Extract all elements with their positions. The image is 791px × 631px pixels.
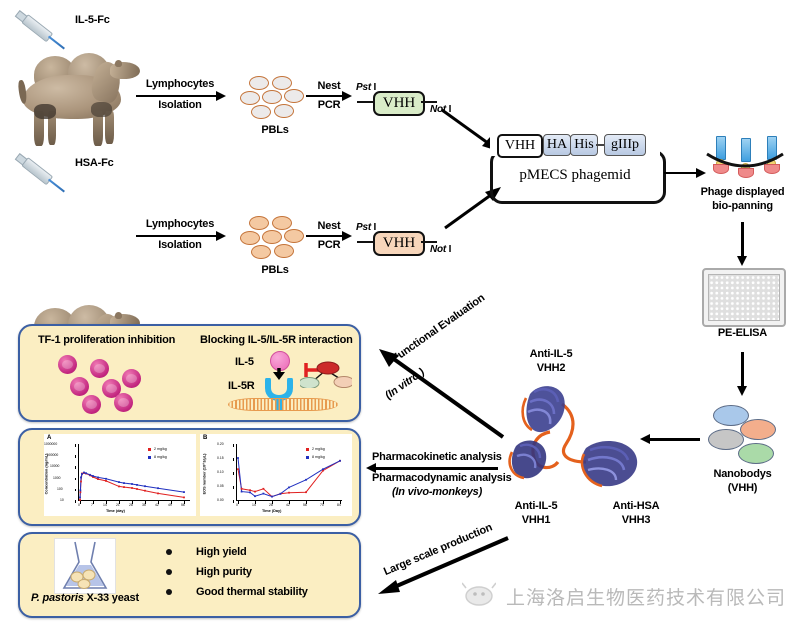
pharmacodynamic-label: Pharmacodynamic analysis xyxy=(372,472,512,486)
microplate-icon xyxy=(702,268,786,327)
antigen-label-il5: IL-5-Fc xyxy=(75,14,110,28)
camel-icon-il5 xyxy=(6,38,146,148)
vhh-gene-box-il5: VHH xyxy=(373,91,425,116)
antibody-icon xyxy=(300,358,352,388)
phagemid-element-ha: HA xyxy=(543,134,571,156)
cell-membrane-icon xyxy=(228,398,338,411)
chart-a-plot xyxy=(44,434,196,516)
vhh-gene-box-hsa: VHH xyxy=(373,231,425,256)
yeast-flask-icon xyxy=(54,538,116,594)
phagemid-element-vhh: VHH xyxy=(497,134,543,158)
pbl-cluster-il5 xyxy=(240,76,310,120)
isolation-arrow-il5 xyxy=(136,95,218,97)
pbls-label-il5: PBLs xyxy=(240,124,310,138)
nanobody-cluster xyxy=(708,405,782,463)
bullet-marker-0 xyxy=(166,549,172,555)
pharmacodynamic-sublabel: (In vivo-monkeys) xyxy=(372,486,502,500)
company-name: 上海洛启生物医药技术有限公司 xyxy=(506,583,786,610)
chart-b-plot xyxy=(200,434,352,516)
antigen-label-hsa: HSA-Fc xyxy=(75,157,114,171)
il5r-receptor-label: IL-5R xyxy=(228,380,255,394)
vhh2-label: Anti-IL-5 VHH2 xyxy=(505,348,597,376)
company-logo-icon xyxy=(462,580,496,610)
production-bullet-2: Good thermal stability xyxy=(196,586,308,600)
pst-site-label-hsa: Pst I xyxy=(356,222,376,235)
not-site-label-hsa: Not I xyxy=(430,244,451,257)
vhh3-label: Anti-HSA VHH3 xyxy=(592,500,680,528)
nanobody-label: Nanobodys (VHH) xyxy=(694,468,791,496)
isolation-step-label-hsa: Lymphocytes xyxy=(136,218,224,232)
elisa-to-nanobody-arrow xyxy=(741,352,744,388)
pcr-arrow-il5 xyxy=(306,95,344,97)
chart-a: A 10 100 1000 10000 100000 1000000 0 7 1… xyxy=(44,434,196,516)
pbl-cluster-hsa xyxy=(240,216,310,260)
nanobody-ellipse-2 xyxy=(740,419,776,440)
gene-stub-left-hsa xyxy=(357,241,373,243)
pst-site-label-il5: Pst I xyxy=(356,82,376,95)
trivalent-nanobody-structure xyxy=(500,370,660,520)
phagemid-linker xyxy=(596,144,604,146)
bullet-marker-2 xyxy=(166,589,172,595)
pk-pd-arrow xyxy=(376,467,498,470)
bullet-marker-1 xyxy=(166,569,172,575)
gene-stub-right-il5 xyxy=(421,101,437,103)
production-bullet-1: High purity xyxy=(196,566,252,580)
tf1-panel-title: TF-1 proliferation inhibition xyxy=(38,334,175,348)
chart-b: B 0.00 0.05 0.10 0.15 0.20 0 14 28 42 56… xyxy=(200,434,352,516)
isolation-step-label-il5: Lymphocytes xyxy=(136,78,224,92)
panning-to-elisa-arrowhead xyxy=(737,256,747,266)
vhh1-label: Anti-IL-5 VHH1 xyxy=(492,500,580,528)
nanobody-ellipse-4 xyxy=(738,443,774,464)
gene-stub-right-hsa xyxy=(421,241,437,243)
panning-to-elisa-arrow xyxy=(741,222,744,258)
il5-ligand-label: IL-5 xyxy=(235,356,254,370)
phage-panning-illustration xyxy=(705,136,785,182)
panning-label: Phage displayed bio-panning xyxy=(694,186,791,214)
elisa-label: PE-ELISA xyxy=(694,327,791,341)
elisa-to-nanobody-arrowhead xyxy=(737,386,747,396)
phagemid-element-his: His xyxy=(570,134,598,156)
pcr-step-label2-il5: PCR xyxy=(318,99,341,111)
phagemid-element-giiip: gIIIp xyxy=(604,134,646,156)
pcr-step-label2-hsa: PCR xyxy=(318,239,341,251)
production-bullet-0: High yield xyxy=(196,546,247,560)
tf1-cell-cluster xyxy=(48,355,168,413)
blocking-panel-title: Blocking IL-5/IL-5R interaction xyxy=(200,334,353,348)
isolation-step-label2-il5: Isolation xyxy=(158,99,201,111)
phagemid-name: pMECS phagemid xyxy=(490,167,660,184)
isolation-step-label2-hsa: Isolation xyxy=(158,239,201,251)
pcr-arrow-hsa xyxy=(306,235,344,237)
gene-stub-left-il5 xyxy=(357,101,373,103)
pharmacokinetic-label: Pharmacokinetic analysis xyxy=(372,451,502,465)
pbls-label-hsa: PBLs xyxy=(240,264,310,278)
nanobody-ellipse-3 xyxy=(708,429,744,450)
phagemid-to-panning-arrow xyxy=(664,172,698,174)
isolation-arrow-hsa xyxy=(136,235,218,237)
yeast-strain-label: P. pastoris X-33 yeast xyxy=(30,592,140,606)
